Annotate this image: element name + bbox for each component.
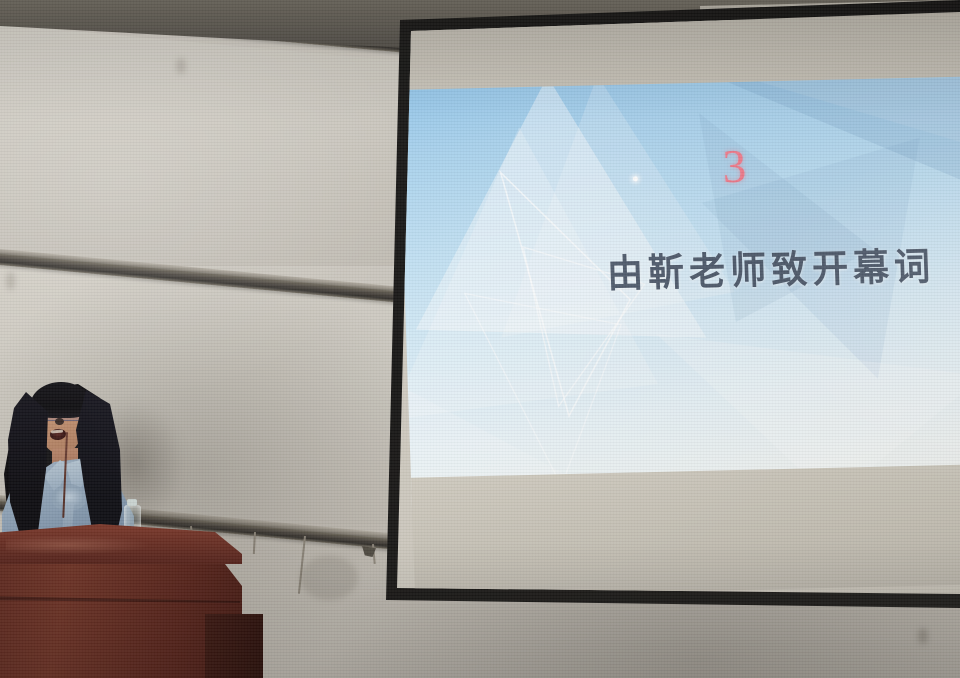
slide-number: 3 <box>722 140 747 195</box>
wall-smudge-2 <box>918 628 928 644</box>
photo-canvas: 3 由靳老师致开幕词 Indoor lecture- <box>0 0 960 678</box>
slide-letterbox-bottom <box>411 464 960 597</box>
water-bottle-cap[interactable] <box>127 499 137 506</box>
wall-smudge-1 <box>300 556 358 600</box>
lens-flare-dot <box>633 176 638 181</box>
presentation-slide[interactable]: 3 由靳老师致开幕词 <box>395 0 960 588</box>
wall-smudge-4 <box>6 272 15 290</box>
wall-smudge-3 <box>176 58 186 74</box>
slide-title: 由靳老师致开幕词 <box>606 236 936 299</box>
microphone-earpiece <box>55 418 64 425</box>
slide-canvas: 3 由靳老师致开幕词 <box>398 76 960 509</box>
podium-highlight <box>6 534 186 556</box>
podium-side-panel <box>205 614 263 678</box>
